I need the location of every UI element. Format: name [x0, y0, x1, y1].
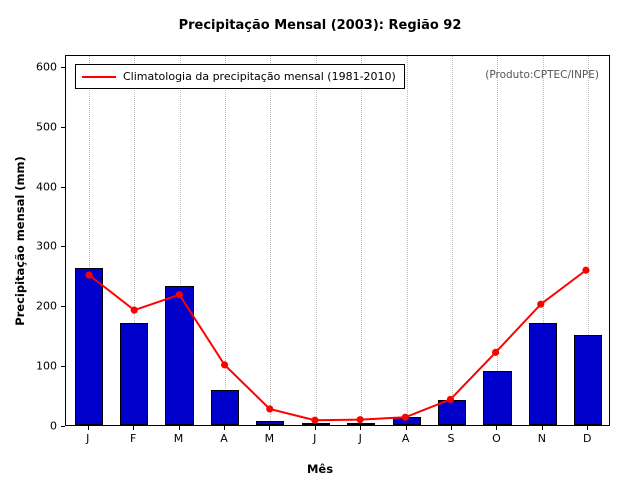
legend-line-swatch [82, 76, 116, 78]
line-marker [492, 349, 499, 356]
legend-item-label: Climatologia da precipitação mensal (198… [123, 70, 396, 83]
line-marker [131, 307, 138, 314]
climatology-line-series [66, 56, 609, 425]
y-tick-mark [61, 127, 65, 128]
line-marker [582, 267, 589, 274]
x-tick-mark [315, 426, 316, 430]
plot-inner [66, 56, 609, 425]
x-tick-label: J [295, 432, 335, 445]
precipitation-chart: Precipitação Mensal (2003): Região 92 Cl… [0, 0, 640, 500]
x-tick-label: M [159, 432, 199, 445]
line-marker [266, 405, 273, 412]
climatology-line [89, 270, 586, 420]
x-tick-mark [269, 426, 270, 430]
y-tick-mark [61, 187, 65, 188]
line-marker [311, 417, 318, 424]
legend: Climatologia da precipitação mensal (198… [75, 64, 405, 89]
x-tick-mark [406, 426, 407, 430]
x-tick-mark [587, 426, 588, 430]
x-tick-mark [451, 426, 452, 430]
x-tick-mark [88, 426, 89, 430]
x-tick-mark [542, 426, 543, 430]
line-marker [402, 414, 409, 421]
y-tick-label: 100 [17, 360, 57, 373]
plot-area: Climatologia da precipitação mensal (198… [65, 55, 610, 426]
x-tick-label: A [386, 432, 426, 445]
line-marker [537, 301, 544, 308]
x-tick-mark [224, 426, 225, 430]
y-tick-label: 500 [17, 120, 57, 133]
y-tick-mark [61, 67, 65, 68]
x-tick-mark [496, 426, 497, 430]
line-marker [447, 396, 454, 403]
line-marker [176, 291, 183, 298]
y-tick-label: 600 [17, 60, 57, 73]
x-tick-label: F [113, 432, 153, 445]
x-tick-mark [360, 426, 361, 430]
x-tick-label: D [567, 432, 607, 445]
x-tick-label: S [431, 432, 471, 445]
y-tick-mark [61, 306, 65, 307]
y-axis-label: Precipitação mensal (mm) [13, 156, 27, 326]
line-marker [85, 271, 92, 278]
x-tick-mark [179, 426, 180, 430]
x-tick-label: A [204, 432, 244, 445]
x-tick-label: J [340, 432, 380, 445]
x-axis: JFMAMJJASOND [65, 426, 610, 456]
x-tick-mark [133, 426, 134, 430]
x-tick-label: N [522, 432, 562, 445]
y-tick-mark [61, 246, 65, 247]
chart-title: Precipitação Mensal (2003): Região 92 [0, 18, 640, 33]
x-tick-label: O [476, 432, 516, 445]
x-tick-label: J [68, 432, 108, 445]
producer-annotation: (Produto:CPTEC/INPE) [485, 69, 599, 81]
x-tick-label: M [249, 432, 289, 445]
line-marker [357, 416, 364, 423]
line-marker [221, 361, 228, 368]
y-tick-mark [61, 366, 65, 367]
y-tick-label: 0 [17, 420, 57, 433]
x-axis-label: Mês [0, 462, 640, 476]
